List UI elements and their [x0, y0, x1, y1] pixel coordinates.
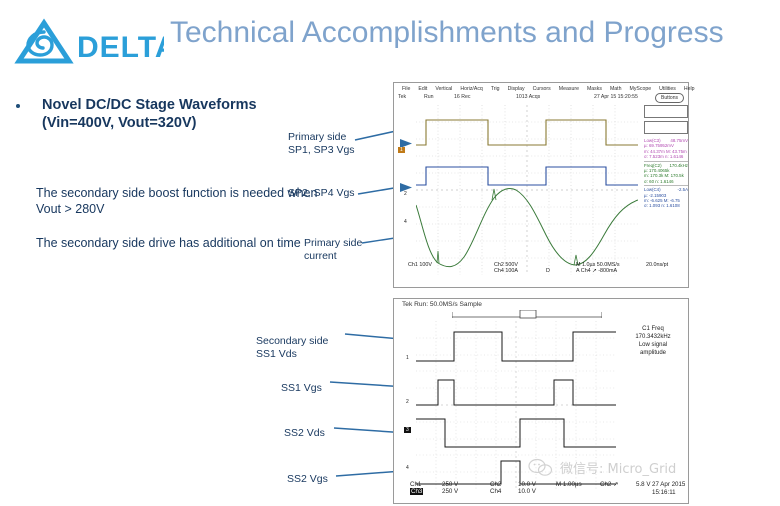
page-title: Technical Accomplishments and Progress [170, 16, 778, 50]
scope-acq-count: 1013 Acqs [516, 94, 540, 100]
meas-name: Low(C3) [644, 138, 661, 143]
menu-vertical[interactable]: Vertical [435, 86, 452, 92]
readout-ch4: Ch4 100A [494, 268, 518, 274]
readout-ch4-label: Ch4 [490, 488, 501, 495]
readout-ch2-label: Ch2 [490, 481, 501, 488]
delta-logo: DELTA [14, 18, 164, 66]
scope-record-mode: 16 Rec [454, 94, 470, 100]
menu-file[interactable]: File [402, 86, 410, 92]
callout-ss2-vds: SS2 Vds [284, 427, 325, 440]
callout-line1: SP2, SP4 Vgs [288, 187, 355, 200]
menu-measure[interactable]: Measure [559, 86, 579, 92]
menu-trig[interactable]: Trig [491, 86, 500, 92]
bullet-dot-icon [16, 104, 20, 108]
readout-timebase: M 1.00µs [556, 481, 582, 488]
callout-secondary-ss1-vds: Secondary side SS1 Vds [256, 335, 328, 361]
menu-myscope[interactable]: MyScope [630, 86, 652, 92]
menu-utilities[interactable]: Utilities [659, 86, 676, 92]
readout-trigger-level: 5.8 V [636, 481, 650, 488]
menu-masks[interactable]: Masks [587, 86, 602, 92]
callout-line2: SS1 Vds [256, 348, 328, 361]
meas-name: Freq(C2) [644, 163, 662, 168]
channel-marker-2-bottom[interactable]: 2 [406, 399, 409, 405]
readout-date: 27 Apr 2015 [652, 481, 685, 488]
callout-line1: SS2 Vgs [287, 473, 328, 486]
bullet-heading: Novel DC/DC Stage Waveforms (Vin=400V, V… [42, 96, 342, 132]
callout-line2: current [304, 250, 362, 263]
watermark-text: 微信号: Micro_Grid [560, 458, 676, 477]
measurement-note-line2: amplitude [622, 349, 684, 357]
readout-ch1-value: 250 V [442, 481, 458, 488]
meas-stat-3: σ: 60 n: 1.6146 [644, 179, 688, 184]
scope-brand: Tek [398, 94, 406, 100]
scope-bottom-header: Tek Run: 50.0MS/s Sample [398, 301, 684, 310]
scope-top-measurement-panel: Low(C3) 48.75mV µ: 69.75952mV m: 44.37m … [644, 105, 688, 225]
scope-top-statusline: Tek Run 16 Rec 1013 Acqs 27 Apr 15 15:20… [398, 94, 684, 103]
readout-trigger-source: Ch2 ↗ [600, 481, 618, 488]
scope-bottom-readouts: Ch1 250 V Ch3 250 V Ch2 10.0 V Ch4 10.0 … [398, 481, 684, 501]
readout-d: D [546, 268, 550, 274]
meas-value: 170.4kHz [669, 163, 688, 168]
menu-display[interactable]: Display [508, 86, 525, 92]
channel-marker-2[interactable] [400, 183, 416, 194]
callout-ss2-vgs: SS2 Vgs [287, 473, 328, 486]
channel-marker-4-bottom[interactable]: 4 [406, 465, 409, 471]
channel-4-label[interactable]: 4 [404, 219, 407, 225]
trigger-position-indicator [452, 310, 602, 319]
scope-top-graticule [416, 105, 638, 275]
readout-time: 15:16:11 [652, 489, 676, 496]
scope-bottom-measurement-panel: C1 Freq 170.3432kHz Low signal amplitude [622, 325, 684, 357]
bullet-heading-line2: (Vin=400V, Vout=320V) [42, 114, 342, 132]
meas-name: Low(C4) [644, 187, 661, 192]
measurement-value: 170.3432kHz [622, 333, 684, 341]
readout-ch2-value: 10.0 V [518, 481, 536, 488]
meas-stat-3: σ: 7.523m n: 1.6146 [644, 154, 688, 159]
menu-horiz-acq[interactable]: Horiz/Acq [460, 86, 483, 92]
menu-help[interactable]: Help [684, 86, 695, 92]
channel-2-arrow-icon [400, 183, 416, 192]
measurement-low-c4: Low(C4) -2.5A µ: -2.15903 m: -6.625 M: -… [644, 186, 688, 210]
scope-run-state[interactable]: Run [424, 94, 434, 100]
readout-ch1: Ch1 100V [408, 262, 432, 268]
delta-triangle-logo: DELTA [14, 18, 164, 66]
scope-top-bottom-readouts: Ch1 100V Ch2 500V Ch4 100A D M 1.0µs 50.… [398, 262, 684, 284]
callout-primary-sp1-sp3: Primary side SP1, SP3 Vgs [288, 131, 355, 157]
scope-bottom-run-status: Tek Run: 50.0MS/s Sample [402, 301, 482, 308]
slide-root: DELTA Technical Accomplishments and Prog… [0, 0, 780, 506]
channel-2-label[interactable]: 2 [404, 191, 407, 197]
callout-line1: Primary side [304, 237, 362, 250]
callout-line2: SP1, SP3 Vgs [288, 144, 355, 157]
scope-top-menubar[interactable]: File Edit Vertical Horiz/Acq Trig Displa… [396, 84, 686, 94]
readout-ch3-label: Ch3 [410, 488, 423, 495]
readout-trigger: A Ch4 ↗ -800mA [576, 268, 617, 274]
callout-line1: SS1 Vgs [281, 382, 322, 395]
oscilloscope-top: File Edit Vertical Horiz/Acq Trig Displa… [393, 82, 689, 288]
measurement-low-c3: Low(C3) 48.75mV µ: 69.75952mV m: 44.37m … [644, 137, 688, 162]
scope-datetime: 27 Apr 15 15:20:55 [594, 94, 638, 100]
buttons-button[interactable]: Buttons [655, 93, 684, 103]
wechat-icon [528, 458, 554, 476]
menu-math[interactable]: Math [610, 86, 622, 92]
readout-ch3-value: 250 V [442, 488, 458, 495]
paragraph-additional-on-time: The secondary side drive has additional … [36, 235, 336, 251]
channel-1-badge[interactable]: 1 [398, 147, 405, 153]
menu-edit[interactable]: Edit [418, 86, 427, 92]
measurement-title: C1 Freq [622, 325, 684, 333]
readout-ch4-value: 10.0 V [518, 488, 536, 495]
meas-value: -2.5A [678, 187, 689, 192]
callout-sp2-sp4: SP2, SP4 Vgs [288, 187, 355, 200]
channel-marker-3-bottom[interactable]: 3 [404, 427, 411, 433]
scope-top-plot [416, 105, 638, 275]
measurement-freq-c2: Freq(C2) 170.4kHz µ: 170.4065k m: 170.3k… [644, 162, 688, 187]
callout-line1: SS2 Vds [284, 427, 325, 440]
callout-line1: Primary side [288, 131, 355, 144]
readout-resolution: 20.0ns/pt [646, 262, 668, 268]
readout-ch1-label: Ch1 [410, 481, 421, 488]
measurement-note-line1: Low signal [622, 341, 684, 349]
callout-ss1-vgs: SS1 Vgs [281, 382, 322, 395]
callout-line1: Secondary side [256, 335, 328, 348]
readout-box-1 [644, 105, 688, 118]
channel-marker-1-bottom[interactable]: 1 [406, 355, 409, 361]
bullet-heading-line1: Novel DC/DC Stage Waveforms [42, 96, 342, 114]
meas-stat-3: σ: 1.093 n: 1.6108 [644, 203, 688, 208]
delta-wordmark: DELTA [77, 31, 164, 64]
menu-cursors[interactable]: Cursors [533, 86, 551, 92]
readout-box-2 [644, 121, 688, 134]
callout-primary-current: Primary side current [304, 237, 362, 263]
